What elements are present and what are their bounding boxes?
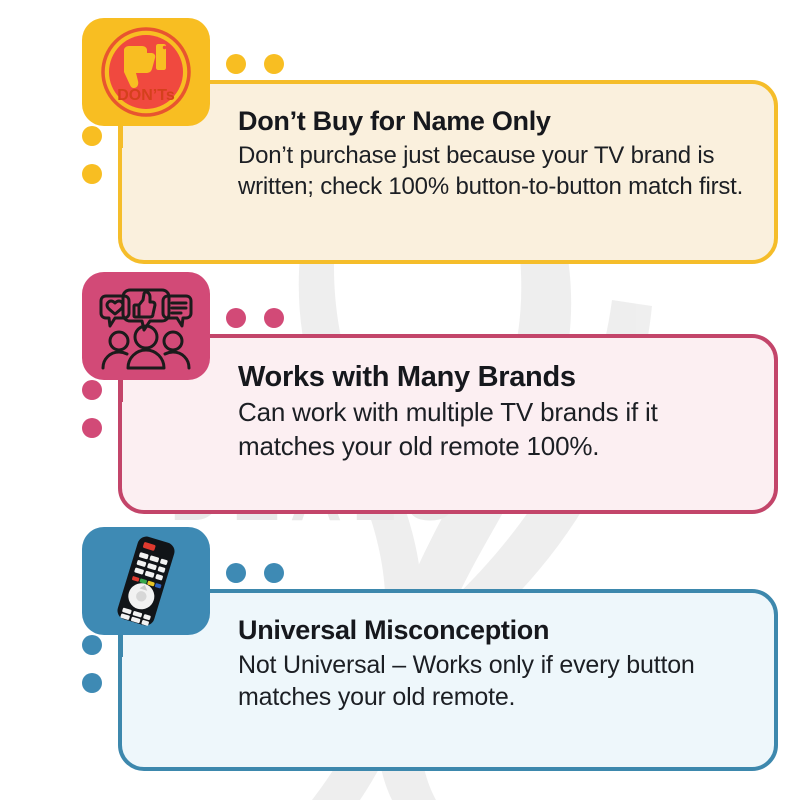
- decor-dot-side-1a: [82, 126, 102, 146]
- card-title-donts: Don’t Buy for Name Only: [238, 106, 748, 138]
- thumbs-down-donts-icon: DON’Ts: [94, 25, 198, 119]
- card-title-universal-misconception: Universal Misconception: [238, 615, 748, 647]
- badge-donts[interactable]: DON’Ts: [82, 18, 210, 126]
- people-feedback-icon: [94, 280, 198, 372]
- decor-dot-top-2b: [264, 308, 284, 328]
- card-description-universal-misconception: Not Universal – Works only if every butt…: [238, 649, 748, 714]
- card-body-many-brands: Works with Many Brands Can work with mul…: [118, 334, 778, 514]
- decor-dot-side-1b: [82, 164, 102, 184]
- decor-dot-side-3b: [82, 673, 102, 693]
- decor-dot-top-3b: [264, 563, 284, 583]
- decor-dot-side-3a: [82, 635, 102, 655]
- decor-dot-top-3a: [226, 563, 246, 583]
- card-body-donts: Don’t Buy for Name Only Don’t purchase j…: [118, 80, 778, 264]
- badge-label-donts: DON’Ts: [117, 87, 175, 104]
- card-stack: Don’t Buy for Name Only Don’t purchase j…: [0, 0, 800, 800]
- card-body-universal-misconception: Universal Misconception Not Universal – …: [118, 589, 778, 771]
- decor-dot-side-2b: [82, 418, 102, 438]
- badge-universal-misconception[interactable]: [82, 527, 210, 635]
- tv-remote-icon: [94, 533, 198, 629]
- card-description-many-brands: Can work with multiple TV brands if it m…: [238, 396, 748, 464]
- card-title-many-brands: Works with Many Brands: [238, 360, 748, 394]
- card-description-donts: Don’t purchase just because your TV bran…: [238, 140, 748, 202]
- decor-dot-side-2a: [82, 380, 102, 400]
- decor-dot-top-1b: [264, 54, 284, 74]
- decor-dot-top-2a: [226, 308, 246, 328]
- decor-dot-top-1a: [226, 54, 246, 74]
- badge-many-brands[interactable]: [82, 272, 210, 380]
